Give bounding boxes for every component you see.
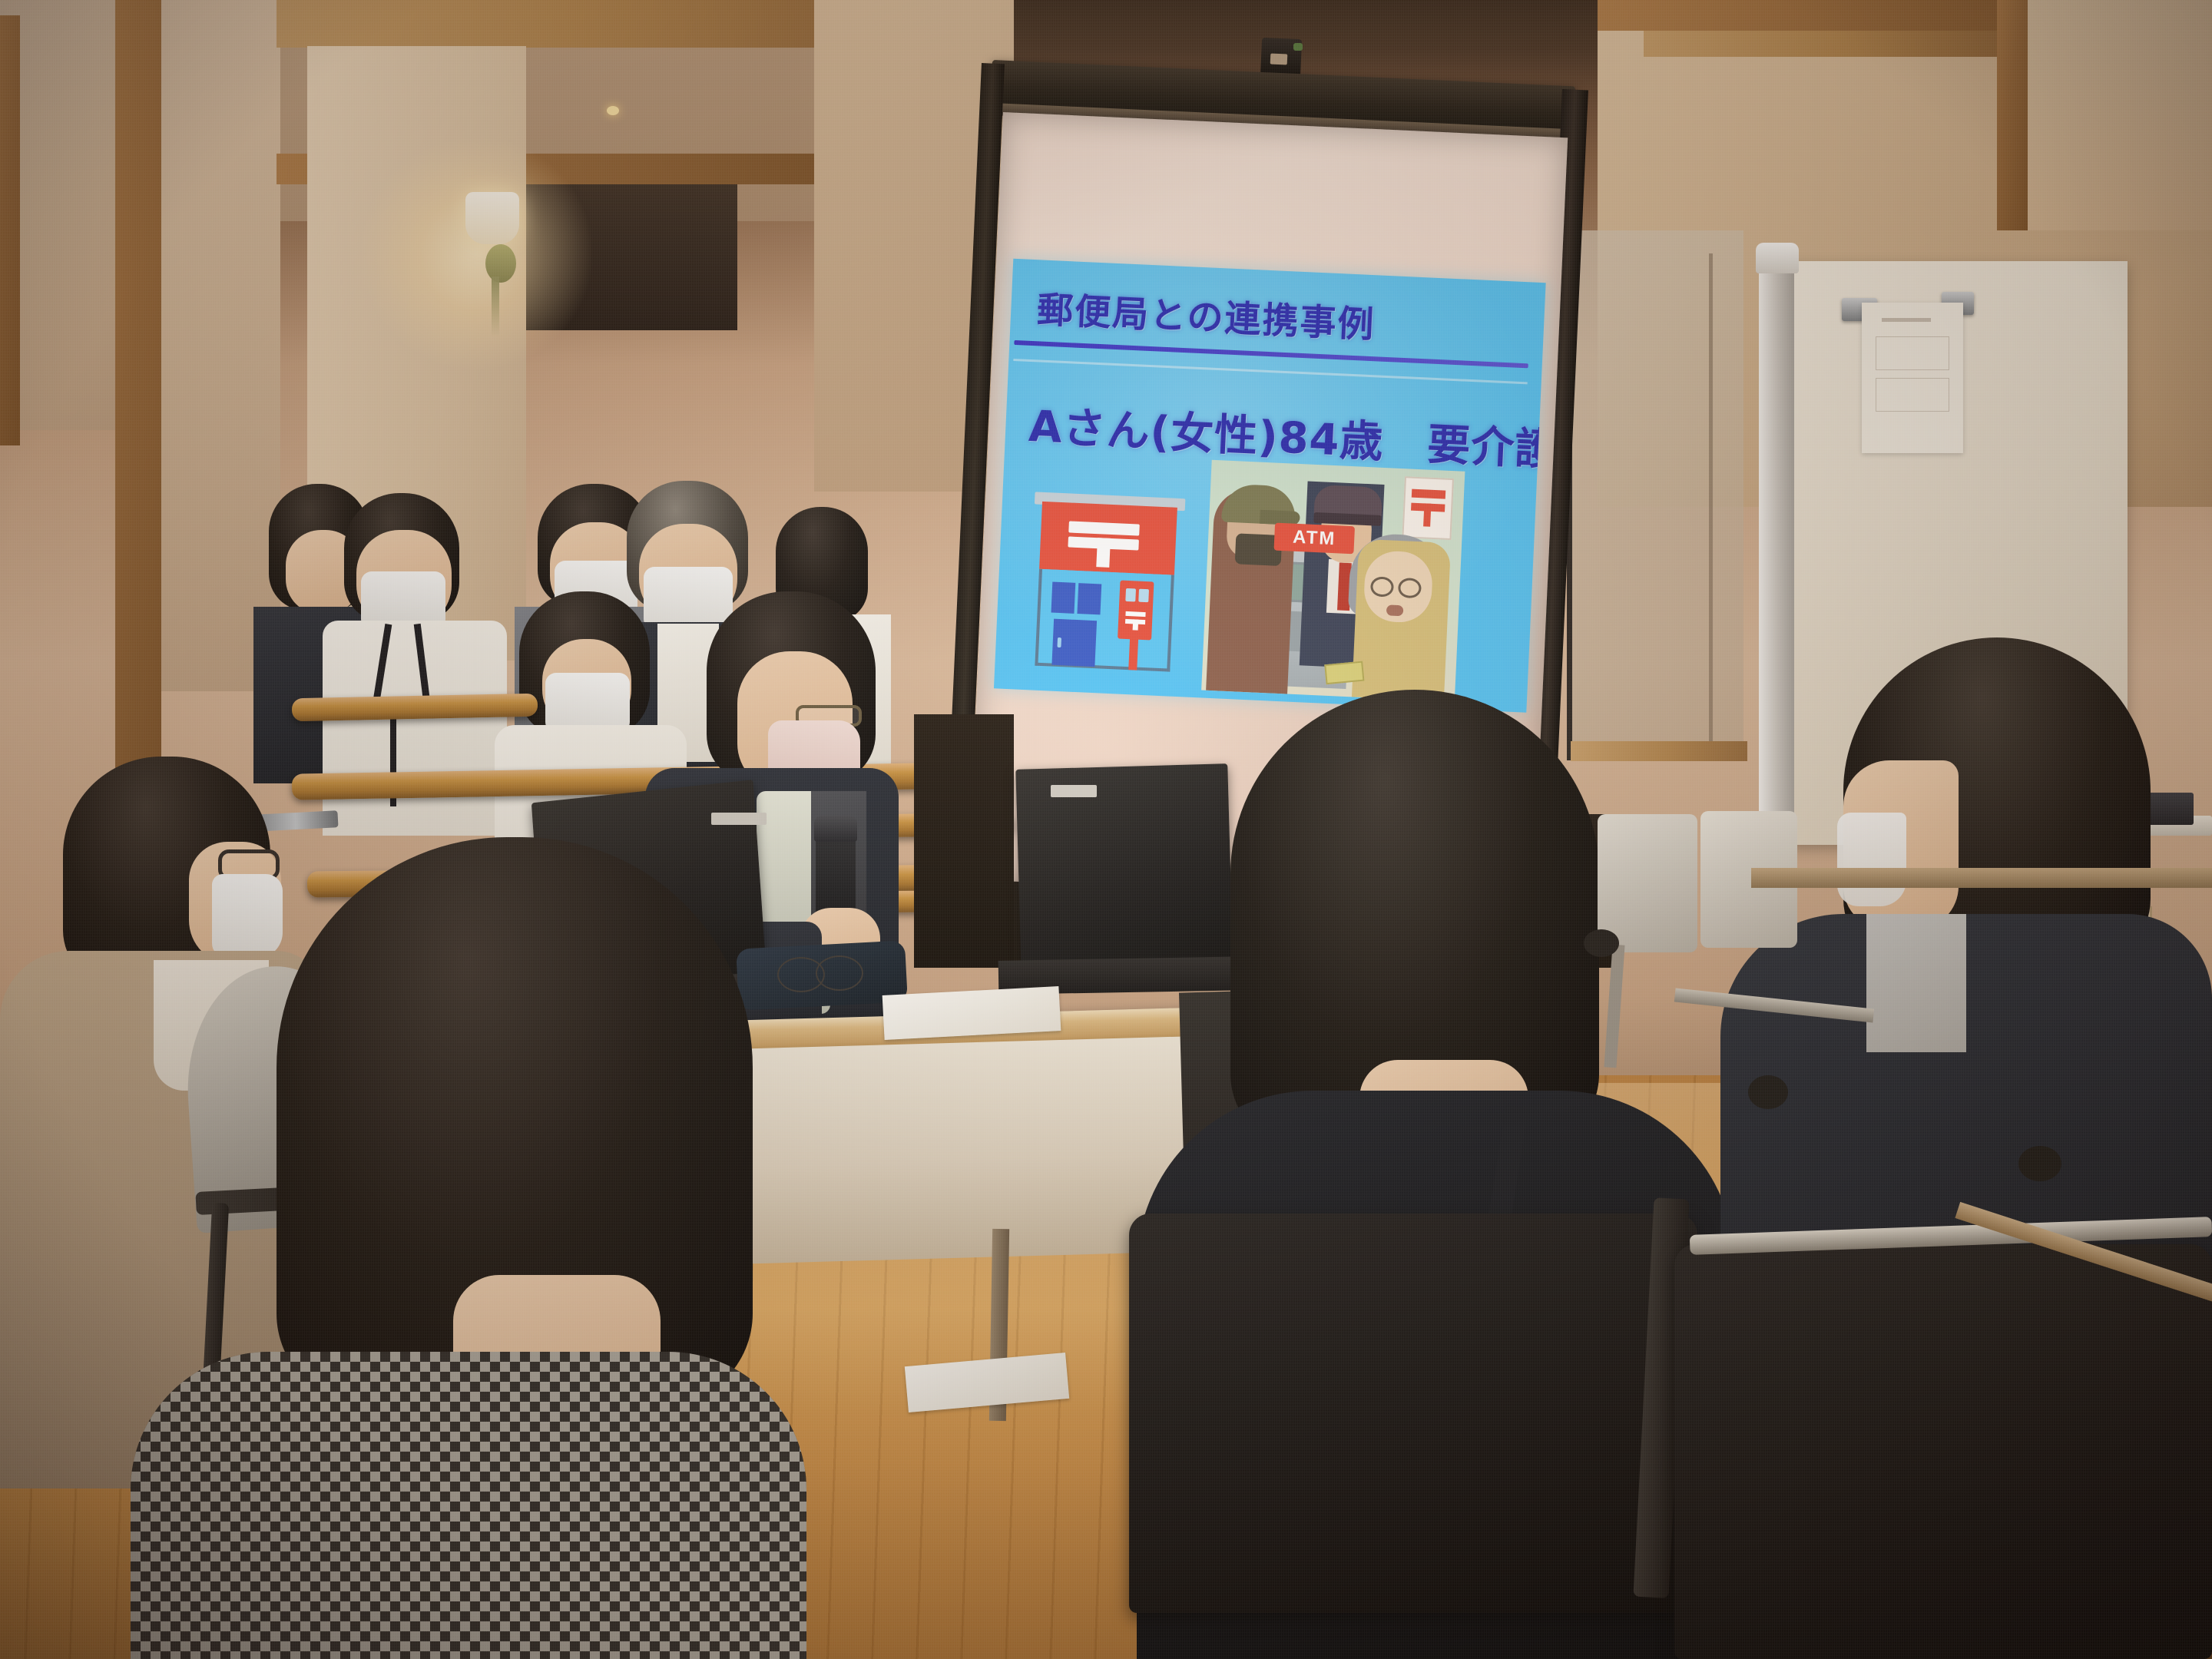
eyeglasses-on-table-right[interactable]	[816, 955, 863, 991]
poster-mark-top	[1412, 489, 1445, 499]
stacking-chair-caster-3	[2018, 1146, 2061, 1181]
postal-mark-stem	[1096, 538, 1111, 568]
wood-post-left	[115, 0, 161, 829]
post-box-pole	[1128, 637, 1138, 670]
post-office-window-right	[1077, 583, 1101, 614]
paper-grid-row-2	[1876, 378, 1949, 412]
screen-mount-notch	[1270, 54, 1288, 65]
glass-partition-mullion	[1709, 253, 1713, 745]
sconce-glow	[361, 138, 591, 369]
paper-grid-row-1	[1876, 336, 1949, 370]
laptop-right-lid[interactable]	[1015, 763, 1233, 975]
stacking-chair-far-1-caster	[1584, 929, 1619, 957]
whiteboard-left-frame	[1759, 253, 1794, 876]
whiteboard-top-cap	[1756, 243, 1799, 273]
standee-woman-mask	[545, 673, 630, 733]
laptop-right-label	[1051, 785, 1097, 797]
post-office-window-left	[1051, 582, 1076, 614]
presentation-room-photo: 郵便局との連携事例 Aさん(女性)84歳 要介護1 独居	[0, 0, 2212, 1659]
post-box-slot-left	[1125, 588, 1136, 602]
post-box-slot-right	[1138, 589, 1149, 603]
wood-post-right	[1997, 0, 2028, 230]
microphone-head	[814, 816, 857, 842]
wood-beam-left-edge	[0, 15, 20, 445]
stacking-chair-caster-2	[1748, 1075, 1788, 1109]
sconce-arm	[485, 244, 516, 283]
wall-upper-center-left	[157, 0, 280, 691]
post-box-mark-top	[1125, 611, 1145, 617]
chair-center-back[interactable]	[1129, 1214, 1697, 1613]
cash-note	[1324, 661, 1364, 685]
attendee-right-collar	[1866, 914, 1966, 1052]
attendee-left-mask	[212, 874, 283, 959]
chair-right-back[interactable]	[1674, 1244, 2212, 1659]
sconce-shade-icon	[465, 192, 519, 244]
attendee-foreground-checkered-pattern	[131, 1352, 806, 1659]
doorway-header-beam	[276, 0, 829, 48]
paper-caption-line	[1882, 318, 1931, 322]
papers-on-table[interactable]	[882, 986, 1061, 1040]
baseboard-right	[1751, 868, 2212, 888]
poster-mark-stem	[1423, 503, 1431, 526]
wall-corner-right	[2028, 0, 2212, 230]
post-box-mark-stem	[1133, 619, 1139, 630]
atm-scene-illustration: ATM	[1201, 460, 1465, 702]
ceiling-downlight	[607, 106, 619, 115]
laptop-left-label	[711, 813, 767, 825]
dark-backdrop-panel-right	[914, 714, 1014, 968]
screen-mount-marker	[1293, 43, 1303, 51]
standee-grey-hair-mask	[644, 567, 733, 630]
sconce-stem	[492, 276, 499, 336]
standee-white-shirt-body	[323, 621, 507, 836]
atm-label: ATM	[1273, 523, 1355, 555]
post-office-building-illustration	[1025, 490, 1187, 674]
elderly-woman-mouth	[1386, 604, 1404, 616]
attendee-right-mask	[1837, 813, 1906, 906]
stacking-chair-far-1[interactable]	[1598, 814, 1697, 952]
projected-slide: 郵便局との連携事例 Aさん(女性)84歳 要介護1 独居	[994, 259, 1546, 713]
post-office-door-knob	[1057, 637, 1061, 647]
wood-beam-right-upper	[1644, 31, 2005, 57]
